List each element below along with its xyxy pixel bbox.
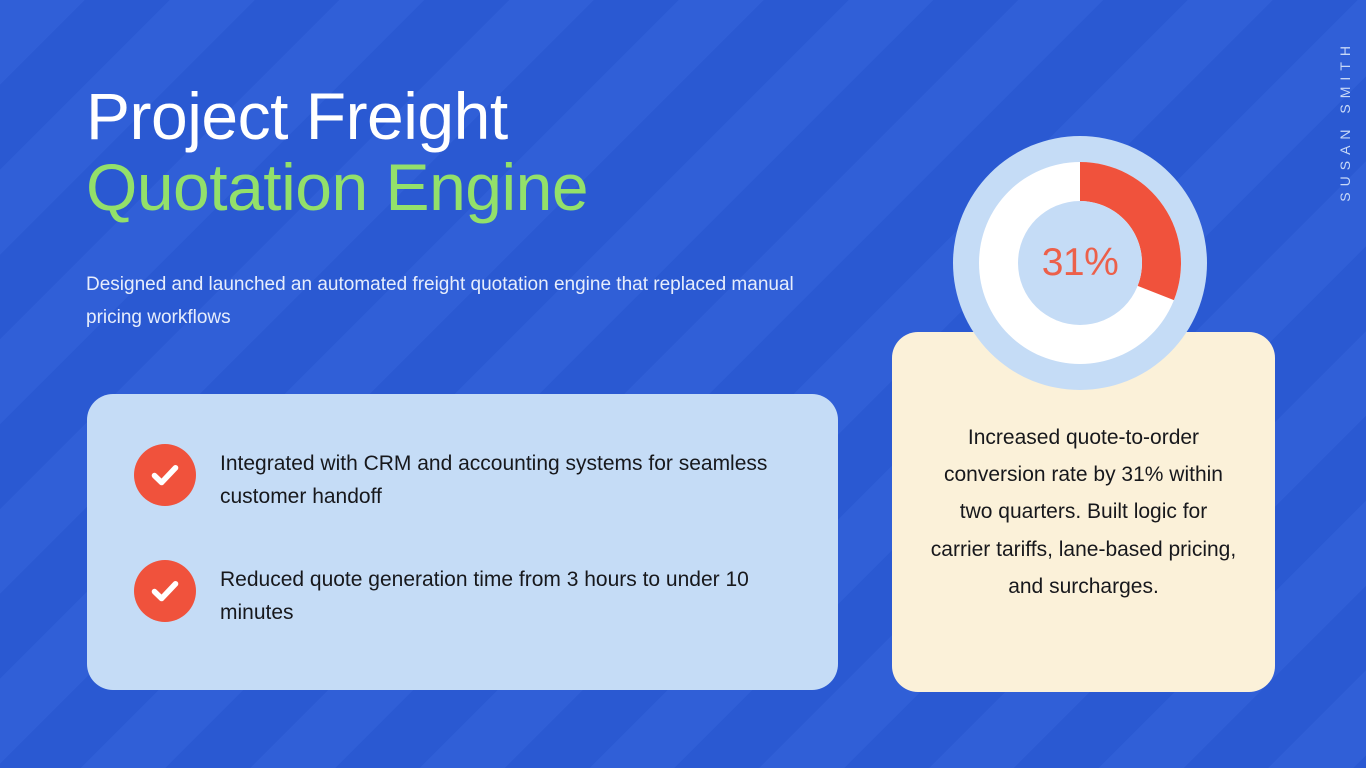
list-item: Integrated with CRM and accounting syste… — [134, 442, 794, 513]
page-title-line-1: Project Freight — [86, 84, 846, 149]
page-subtitle: Designed and launched an automated freig… — [86, 268, 826, 335]
page-title: Project Freight Quotation Engine — [86, 84, 846, 219]
list-item-label: Integrated with CRM and accounting syste… — [220, 442, 780, 513]
donut-hole — [1018, 201, 1142, 325]
feature-card: Integrated with CRM and accounting syste… — [87, 394, 838, 690]
donut-chart: 31% — [953, 136, 1207, 390]
list-item: Reduced quote generation time from 3 hou… — [134, 558, 794, 629]
check-circle-icon — [134, 444, 196, 506]
check-circle-icon — [134, 560, 196, 622]
result-card-text: Increased quote-to-order conversion rate… — [930, 419, 1237, 606]
list-item-label: Reduced quote generation time from 3 hou… — [220, 558, 780, 629]
page-title-line-2: Quotation Engine — [86, 155, 846, 220]
slide-canvas: SUSAN SMITH Project Freight Quotation En… — [0, 0, 1366, 768]
author-name: SUSAN SMITH — [1338, 40, 1352, 202]
